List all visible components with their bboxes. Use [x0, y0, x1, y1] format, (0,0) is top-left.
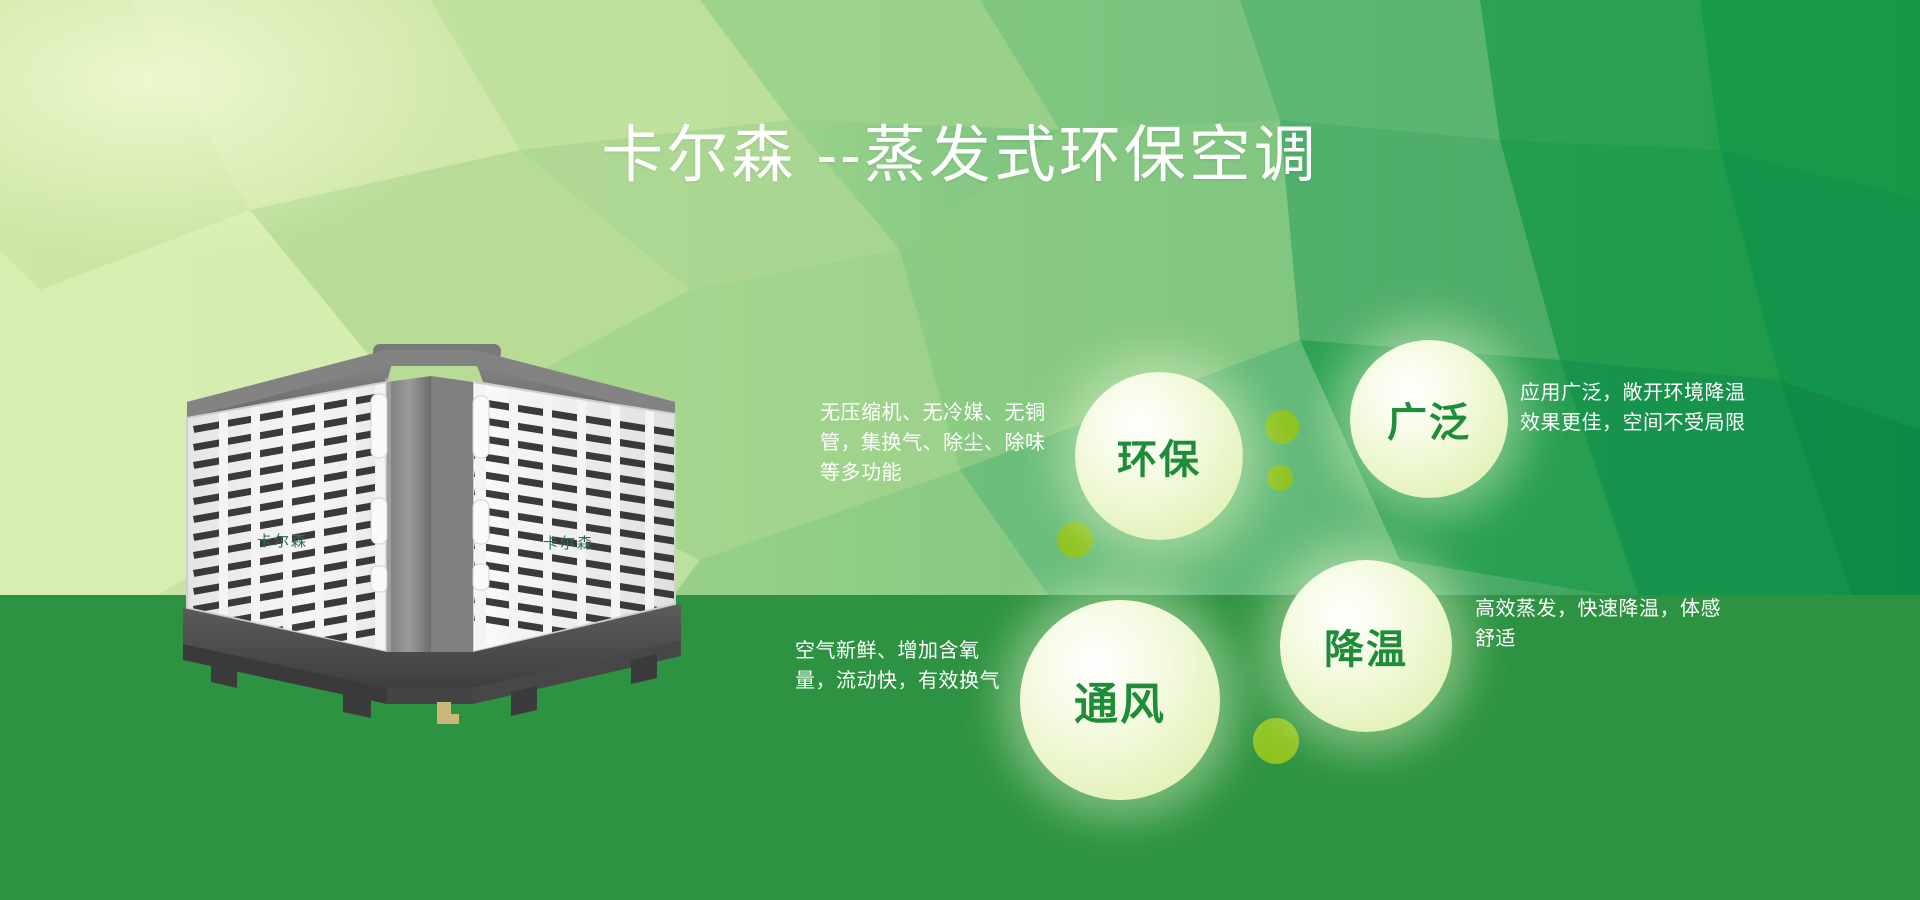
- feature-caption-tongfeng: 空气新鲜、增加含氧量，流动快，有效换气: [795, 636, 1010, 696]
- product-label-left: 卡尔森: [257, 533, 308, 550]
- feature-bubble-jiangwen[interactable]: 降温: [1280, 560, 1452, 732]
- feature-bubble-label: 环保: [1117, 427, 1201, 485]
- product-label-right: 卡尔森: [543, 535, 594, 552]
- promo-banner: 卡尔森 --蒸发式环保空调: [0, 0, 1920, 900]
- product-image: 卡尔森 卡尔森: [175, 340, 695, 760]
- accent-dot: [1057, 522, 1093, 558]
- feature-bubble-guangfan[interactable]: 广泛: [1350, 340, 1508, 498]
- feature-bubble-label: 通风: [1074, 668, 1166, 732]
- page-title: 卡尔森 --蒸发式环保空调: [0, 122, 1920, 190]
- feature-bubble-huanbao[interactable]: 环保: [1075, 372, 1243, 540]
- accent-dot: [1267, 465, 1293, 491]
- feature-caption-guangfan: 应用广泛，敞开环境降温效果更佳，空间不受局限: [1520, 378, 1755, 438]
- feature-bubble-label: 广泛: [1387, 390, 1471, 448]
- feature-bubble-label: 降温: [1324, 617, 1408, 675]
- feature-caption-jiangwen: 高效蒸发，快速降温，体感舒适: [1475, 594, 1725, 654]
- accent-dot: [1265, 410, 1299, 444]
- accent-dot: [1253, 718, 1299, 764]
- feature-bubble-tongfeng[interactable]: 通风: [1020, 600, 1220, 800]
- air-cooler-illustration: 卡尔森 卡尔森: [175, 340, 695, 760]
- feature-caption-huanbao: 无压缩机、无冷媒、无铜管，集换气、除尘、除味等多功能: [820, 398, 1060, 488]
